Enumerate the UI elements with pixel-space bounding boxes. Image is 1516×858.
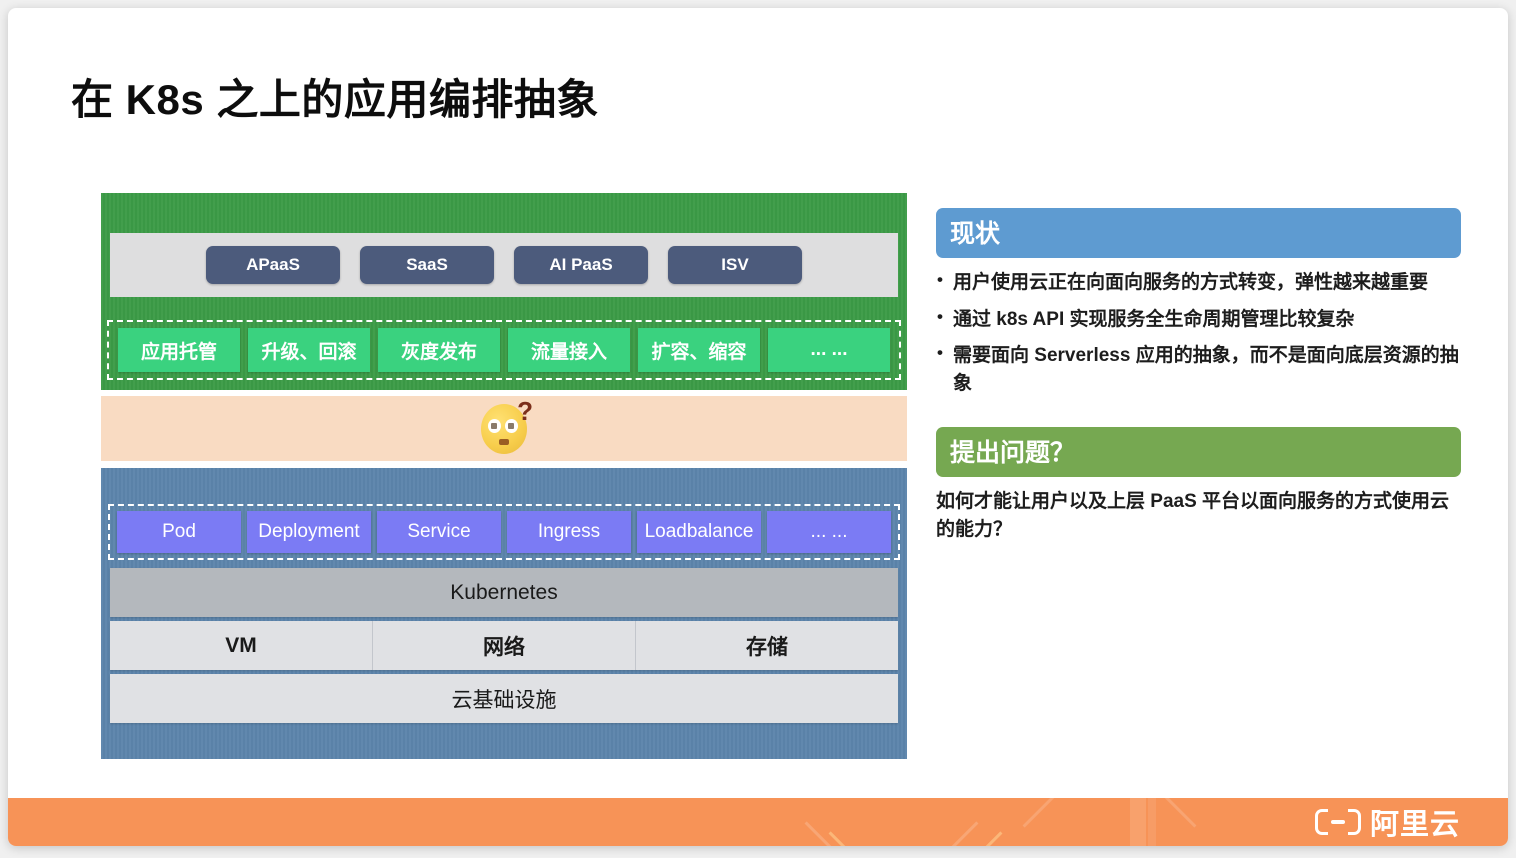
abstraction-gap-band: ? xyxy=(101,396,907,461)
paas-chip-isv[interactable]: ISV xyxy=(668,246,802,284)
thinking-face-emoji-icon: ? xyxy=(481,404,527,454)
logo-dash xyxy=(1331,820,1345,824)
k8s-resource-deployment[interactable]: Deployment xyxy=(247,511,371,553)
capability-chip-app-hosting[interactable]: 应用托管 xyxy=(118,328,240,372)
list-item: 通过 k8s API 实现服务全生命周期管理比较复杂 xyxy=(936,306,1461,334)
alibaba-cloud-logo: 阿里云 xyxy=(1315,801,1460,843)
question-section-body: 如何才能让用户以及上层 PaaS 平台以面向服务的方式使用云的能力？ xyxy=(936,488,1461,543)
k8s-resource-more[interactable]: ... ... xyxy=(767,511,891,553)
architecture-diagram: APaaS SaaS AI PaaS ISV 应用托管 升级、回滚 灰度发布 流… xyxy=(101,193,907,759)
paas-chip-saas[interactable]: SaaS xyxy=(360,246,494,284)
question-section-header: 提出问题？ xyxy=(936,427,1461,477)
capability-chip-scaling[interactable]: 扩容、缩容 xyxy=(638,328,760,372)
emoji-mouth xyxy=(499,439,509,445)
footer-bar-decoration xyxy=(1130,798,1146,846)
application-layer-frame: APaaS SaaS AI PaaS ISV 应用托管 升级、回滚 灰度发布 流… xyxy=(101,193,907,390)
cloud-infrastructure-row: 云基础设施 xyxy=(110,674,898,723)
status-section-header: 现状 xyxy=(936,208,1461,258)
paas-consumer-panel: APaaS SaaS AI PaaS ISV xyxy=(110,233,898,297)
resource-row: VM 网络 存储 xyxy=(110,621,898,670)
emoji-eye-right xyxy=(505,419,518,433)
logo-bracket-right xyxy=(1348,809,1361,835)
right-panel: 现状 用户使用云正在向面向服务的方式转变，弹性越来越重要 通过 k8s API … xyxy=(936,208,1461,573)
status-section: 现状 用户使用云正在向面向服务的方式转变，弹性越来越重要 通过 k8s API … xyxy=(936,208,1461,397)
k8s-resource-ingress[interactable]: Ingress xyxy=(507,511,631,553)
footer-bar: 阿里云 xyxy=(8,798,1508,846)
k8s-resource-loadbalance[interactable]: Loadbalance xyxy=(637,511,761,553)
infrastructure-stack: Kubernetes VM 网络 存储 云基础设施 xyxy=(110,568,898,727)
resource-cell-storage[interactable]: 存储 xyxy=(636,621,898,670)
infrastructure-cell-cloud[interactable]: 云基础设施 xyxy=(110,674,898,723)
status-bullet-list: 用户使用云正在向面向服务的方式转变，弹性越来越重要 通过 k8s API 实现服… xyxy=(936,269,1461,397)
capability-row: 应用托管 升级、回滚 灰度发布 流量接入 扩容、缩容 ... ... xyxy=(107,320,901,380)
emoji-eye-left xyxy=(488,419,501,433)
list-item: 需要面向 Serverless 应用的抽象，而不是面向底层资源的抽象 xyxy=(936,342,1461,397)
footer-bar-decoration xyxy=(1148,798,1156,846)
slide-canvas: 在 K8s 之上的应用编排抽象 APaaS SaaS AI PaaS ISV 应… xyxy=(8,8,1508,846)
capability-chip-more[interactable]: ... ... xyxy=(768,328,890,372)
page-title: 在 K8s 之上的应用编排抽象 xyxy=(71,66,599,127)
alibaba-cloud-mark-icon xyxy=(1315,809,1361,835)
resource-cell-vm[interactable]: VM xyxy=(110,621,373,670)
k8s-resource-row: Pod Deployment Service Ingress Loadbalan… xyxy=(108,504,900,560)
platform-row: Kubernetes xyxy=(110,568,898,617)
logo-text: 阿里云 xyxy=(1370,801,1460,843)
platform-cell-kubernetes[interactable]: Kubernetes xyxy=(110,568,898,617)
list-item: 用户使用云正在向面向服务的方式转变，弹性越来越重要 xyxy=(936,269,1461,297)
logo-bracket-left xyxy=(1315,809,1328,835)
k8s-resource-pod[interactable]: Pod xyxy=(117,511,241,553)
capability-chip-canary-release[interactable]: 灰度发布 xyxy=(378,328,500,372)
question-mark-icon: ? xyxy=(517,398,533,424)
capability-chip-upgrade-rollback[interactable]: 升级、回滚 xyxy=(248,328,370,372)
footer-chevron-decoration xyxy=(1023,798,1197,846)
question-section: 提出问题？ 如何才能让用户以及上层 PaaS 平台以面向服务的方式使用云的能力？ xyxy=(936,427,1461,543)
paas-chip-ai-paas[interactable]: AI PaaS xyxy=(514,246,648,284)
paas-chip-apaas[interactable]: APaaS xyxy=(206,246,340,284)
resource-cell-network[interactable]: 网络 xyxy=(373,621,636,670)
capability-chip-traffic-ingress[interactable]: 流量接入 xyxy=(508,328,630,372)
kubernetes-layer-frame: Pod Deployment Service Ingress Loadbalan… xyxy=(101,468,907,759)
k8s-resource-service[interactable]: Service xyxy=(377,511,501,553)
